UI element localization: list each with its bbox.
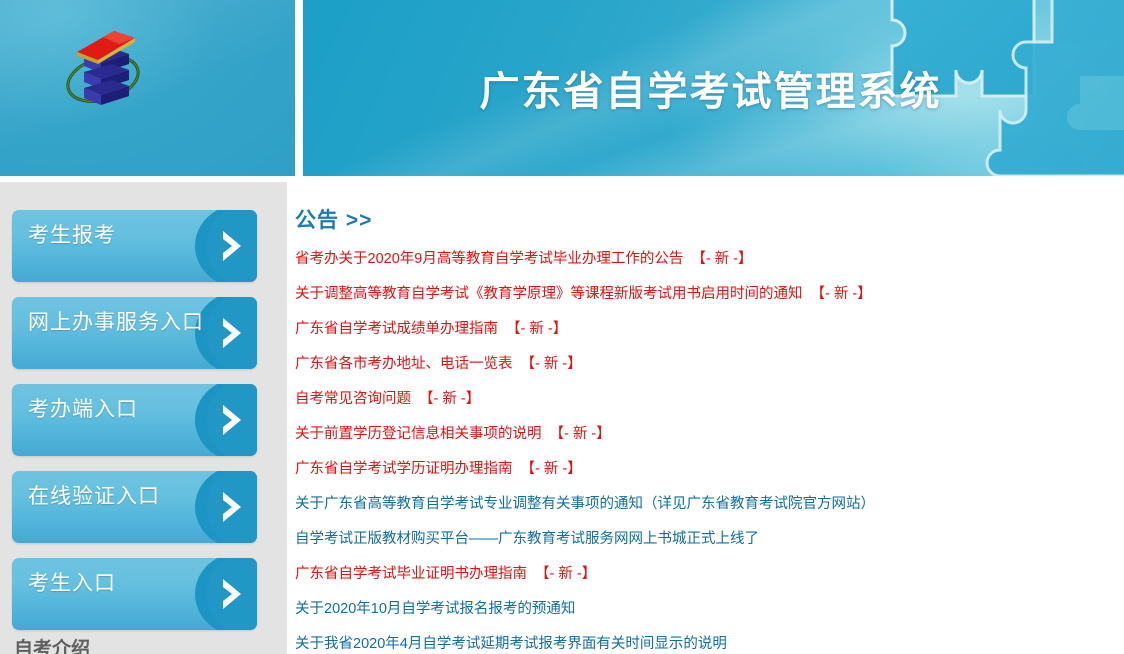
sidebar-section-title: 自考介绍: [14, 634, 90, 654]
notice-heading: 公告 >>: [295, 204, 372, 234]
notice-text: 广东省自学考试成绩单办理指南: [295, 321, 498, 337]
notice-link[interactable]: 广东省自学考试学历证明办理指南【- 新 -】: [295, 452, 1115, 487]
notice-link[interactable]: 自考常见咨询问题【- 新 -】: [295, 382, 1115, 417]
notice-link[interactable]: 关于调整高等教育自学考试《教育学原理》等课程新版考试用书启用时间的通知【- 新 …: [295, 277, 1115, 312]
notice-text: 广东省自学考试毕业证明书办理指南: [295, 566, 527, 582]
notice-link[interactable]: 关于广东省高等教育自学考试专业调整有关事项的通知（详见广东省教育考试院官方网站）: [295, 487, 1115, 522]
notice-text: 省考办关于2020年9月高等教育自学考试毕业办理工作的公告: [295, 251, 683, 267]
notice-text: 自考常见咨询问题: [295, 391, 411, 407]
notice-link[interactable]: 关于我省2020年4月自学考试延期考试报考界面有关时间显示的说明: [295, 627, 1115, 654]
sidebar-item-label: 考生入口: [28, 567, 116, 597]
header-banner: 广东省自学考试管理系统: [303, 0, 1124, 176]
graduation-cap-logo-icon: [57, 24, 149, 120]
notice-list: 省考办关于2020年9月高等教育自学考试毕业办理工作的公告【- 新 -】关于调整…: [295, 242, 1115, 654]
notice-link[interactable]: 省考办关于2020年9月高等教育自学考试毕业办理工作的公告【- 新 -】: [295, 242, 1115, 277]
notice-text: 关于我省2020年4月自学考试延期考试报考界面有关时间显示的说明: [295, 636, 727, 652]
sidebar-item-online-verify[interactable]: 在线验证入口: [12, 471, 257, 543]
notice-link[interactable]: 关于前置学历登记信息相关事项的说明【- 新 -】: [295, 417, 1115, 452]
notice-new-badge: 【- 新 -】: [521, 356, 582, 372]
notice-new-badge: 【- 新 -】: [811, 286, 872, 302]
main-content: 公告 >> 省考办关于2020年9月高等教育自学考试毕业办理工作的公告【- 新 …: [295, 182, 1124, 654]
notice-link[interactable]: 自学考试正版教材购买平台——广东教育考试服务网网上书城正式上线了: [295, 522, 1115, 557]
sidebar: 考生报考 网上办事服务入口 考办端入口 在线验证入口: [0, 182, 287, 654]
notice-text: 广东省自学考试学历证明办理指南: [295, 461, 513, 477]
sidebar-item-kaoban-entry[interactable]: 考办端入口: [12, 384, 257, 456]
chevron-right-icon: [220, 229, 246, 263]
notice-text: 自学考试正版教材购买平台——广东教育考试服务网网上书城正式上线了: [295, 531, 759, 547]
notice-link[interactable]: 广东省自学考试成绩单办理指南【- 新 -】: [295, 312, 1115, 347]
chevron-right-icon: [220, 316, 246, 350]
notice-new-badge: 【- 新 -】: [419, 391, 480, 407]
notice-text: 广东省各市考办地址、电话一览表: [295, 356, 513, 372]
notice-new-badge: 【- 新 -】: [691, 251, 752, 267]
sidebar-item-kaosheng-baokao[interactable]: 考生报考: [12, 210, 257, 282]
page-title: 广东省自学考试管理系统: [303, 0, 1124, 176]
notice-text: 关于2020年10月自学考试报名报考的预通知: [295, 601, 575, 617]
sidebar-item-online-service[interactable]: 网上办事服务入口: [12, 297, 257, 369]
site-header: 广东省自学考试管理系统: [0, 0, 1124, 176]
chevron-right-icon: [220, 577, 246, 611]
sidebar-item-label: 在线验证入口: [28, 480, 160, 510]
chevron-right-icon: [220, 490, 246, 524]
sidebar-item-label: 网上办事服务入口: [28, 306, 204, 336]
sidebar-item-student-entry[interactable]: 考生入口: [12, 558, 257, 630]
notice-link[interactable]: 广东省各市考办地址、电话一览表【- 新 -】: [295, 347, 1115, 382]
notice-new-badge: 【- 新 -】: [550, 426, 611, 442]
notice-text: 关于调整高等教育自学考试《教育学原理》等课程新版考试用书启用时间的通知: [295, 286, 803, 302]
notice-link[interactable]: 关于2020年10月自学考试报名报考的预通知: [295, 592, 1115, 627]
chevron-right-icon: [220, 403, 246, 437]
page-root: 广东省自学考试管理系统 考生报考 网上办事服务入口 考办端入口: [0, 0, 1124, 654]
notice-text: 关于前置学历登记信息相关事项的说明: [295, 426, 542, 442]
notice-text: 关于广东省高等教育自学考试专业调整有关事项的通知: [295, 496, 643, 512]
notice-new-badge: 【- 新 -】: [535, 566, 596, 582]
notice-new-badge: 【- 新 -】: [506, 321, 567, 337]
notice-new-badge: 【- 新 -】: [521, 461, 582, 477]
header-logo-panel: [0, 0, 295, 176]
sidebar-item-label: 考办端入口: [28, 393, 138, 423]
notice-suffix: （详见广东省教育考试院官方网站）: [643, 496, 875, 512]
sidebar-item-label: 考生报考: [28, 219, 116, 249]
notice-link[interactable]: 广东省自学考试毕业证明书办理指南【- 新 -】: [295, 557, 1115, 592]
header-divider: [295, 0, 303, 176]
